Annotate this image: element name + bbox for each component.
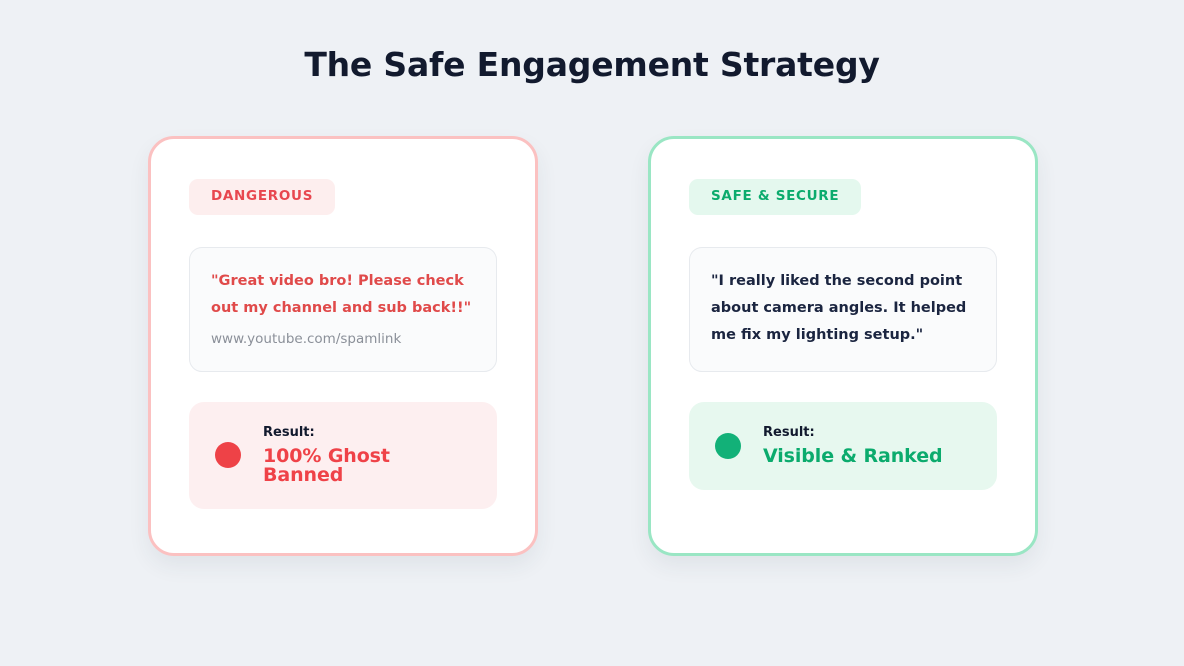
comparison-page: The Safe Engagement Strategy DANGEROUS "… bbox=[0, 0, 1184, 666]
quote-line: "I really liked the second point bbox=[711, 268, 975, 295]
page-title: The Safe Engagement Strategy bbox=[0, 45, 1184, 84]
quote-box-dangerous: "Great video bro! Please check out my ch… bbox=[189, 247, 497, 372]
result-box-dangerous: Result: 100% Ghost Banned bbox=[189, 402, 497, 509]
quote-line: me fix my lighting setup." bbox=[711, 322, 975, 349]
result-box-safe: Result: Visible & Ranked bbox=[689, 402, 997, 490]
status-dot-icon bbox=[215, 442, 241, 468]
card-safe: SAFE & SECURE "I really liked the second… bbox=[648, 136, 1038, 556]
status-dot-icon bbox=[715, 433, 741, 459]
result-value: Visible & Ranked bbox=[763, 447, 943, 466]
quote-line: out my channel and sub back!!" bbox=[211, 295, 475, 322]
badge-safe: SAFE & SECURE bbox=[689, 179, 861, 215]
card-dangerous: DANGEROUS "Great video bro! Please check… bbox=[148, 136, 538, 556]
quote-line: "Great video bro! Please check bbox=[211, 268, 475, 295]
result-label: Result: bbox=[763, 426, 943, 439]
quote-box-safe: "I really liked the second point about c… bbox=[689, 247, 997, 372]
result-label: Result: bbox=[263, 426, 471, 439]
comparison-cards: DANGEROUS "Great video bro! Please check… bbox=[148, 136, 1038, 556]
quote-line: about camera angles. It helped bbox=[711, 295, 975, 322]
badge-dangerous: DANGEROUS bbox=[189, 179, 335, 215]
result-text: Result: Visible & Ranked bbox=[763, 426, 943, 466]
result-value: 100% Ghost Banned bbox=[263, 447, 471, 485]
quote-spam-url: www.youtube.com/spamlink bbox=[211, 329, 475, 349]
result-text: Result: 100% Ghost Banned bbox=[263, 426, 471, 485]
